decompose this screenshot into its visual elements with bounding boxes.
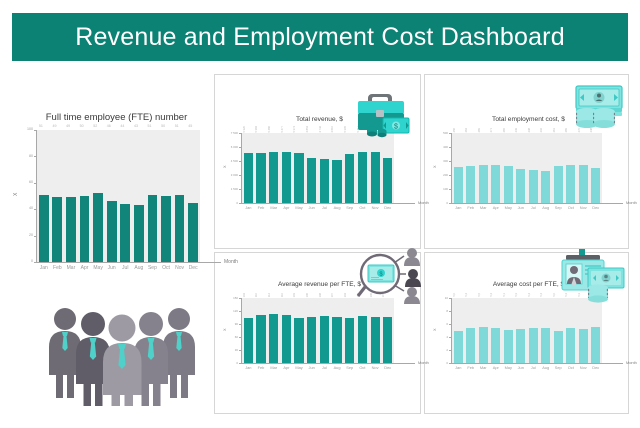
y-axis-tick-mark	[239, 189, 242, 190]
bar[interactable]: 106	[371, 317, 380, 363]
bar[interactable]: 52	[93, 193, 103, 262]
bar[interactable]: 49	[52, 197, 62, 262]
bar[interactable]: 5 320	[244, 153, 253, 203]
bar-group: 103	[293, 298, 306, 363]
bar-value-label: 50	[161, 125, 165, 129]
bar-value-label: 256	[454, 128, 457, 132]
x-axis-tick-label: Sep	[343, 366, 356, 370]
bar-group: 45	[186, 130, 200, 262]
x-axis-name: Month	[626, 361, 637, 365]
y-axis-name: X	[223, 165, 227, 168]
x-axis-tick-label: May	[91, 266, 105, 271]
id-card-money-icon	[552, 248, 626, 306]
x-axis-tick-label: Sep	[552, 366, 565, 370]
bar-value-label: 43	[134, 125, 138, 129]
bar-value-label: 5,4	[466, 293, 469, 297]
bar-group: 44	[118, 130, 132, 262]
y-axis-line	[241, 133, 242, 204]
bar[interactable]: 261	[554, 166, 563, 203]
bar-group: 5,3	[577, 298, 590, 363]
y-axis-tick-label: 2	[434, 349, 448, 352]
bar[interactable]: 108	[358, 316, 367, 363]
bar-value-label: 52	[93, 125, 97, 129]
bar-group: 269	[565, 133, 578, 203]
x-axis-tick-label: Jun	[305, 206, 318, 210]
dashboard-header-band: Revenue and Employment Cost Dashboard	[12, 13, 628, 61]
plot-area: 104110112110103106108107104108106107	[242, 298, 394, 363]
bar-group: 106	[369, 298, 382, 363]
bar[interactable]: 51	[148, 195, 158, 262]
bar-series: 514949505246444351505145	[37, 130, 200, 262]
bar-value-label: 5,1	[504, 293, 507, 297]
bar-value-label: 103	[294, 293, 297, 297]
bar-series: 104110112110103106108107104108106107	[242, 298, 394, 363]
x-axis-tick-label: May	[502, 366, 515, 370]
x-axis-tick-label: Jun	[305, 366, 318, 370]
bar[interactable]: 5 384	[256, 153, 265, 203]
bar[interactable]: 49	[66, 197, 76, 262]
x-axis-labels: JanFebMarAprMayJunJulAugSepOctNovDec	[242, 206, 394, 210]
y-axis-tick-label: 0	[434, 202, 448, 205]
y-axis-tick-mark	[449, 161, 452, 162]
bar[interactable]: 104	[345, 318, 354, 363]
five-employees-icon	[34, 302, 210, 406]
svg-text:$: $	[379, 272, 382, 278]
y-axis-tick-mark	[239, 311, 242, 312]
bar-value-label: 106	[307, 293, 310, 297]
y-axis-line	[451, 298, 452, 364]
bar-group: 52	[91, 130, 105, 262]
y-axis-tick-label: 100	[15, 128, 33, 132]
bar-value-label: 104	[345, 293, 348, 297]
bar-group: 5,0	[452, 298, 465, 363]
bar[interactable]: 5,4	[466, 328, 475, 363]
bar-value-label: 49	[66, 125, 70, 129]
bar[interactable]: 5 305	[345, 154, 354, 204]
y-axis-tick-label: 80	[15, 155, 33, 159]
bar-value-label: 5,3	[516, 293, 519, 297]
x-axis-tick-label: Aug	[540, 366, 553, 370]
x-axis-tick-label: Dec	[381, 366, 394, 370]
bar-group: 5,1	[502, 298, 515, 363]
bar[interactable]: 112	[269, 314, 278, 363]
x-axis-tick-label: Jun	[515, 206, 528, 210]
bar-group: 49	[64, 130, 78, 262]
y-axis-tick-mark	[449, 337, 452, 338]
bar-series: 5 3205 3845 4665 4775 3744 8544 7424 610…	[242, 133, 394, 203]
bar[interactable]: 5,0	[454, 331, 463, 364]
bar-value-label: 107	[332, 293, 335, 297]
y-axis-tick-label: 500	[434, 132, 448, 135]
bar-value-label: 269	[479, 128, 482, 132]
x-axis-tick-label: Jan	[452, 206, 465, 210]
bar-group: 4 742	[318, 133, 331, 203]
x-axis-tick-label: Nov	[369, 366, 382, 370]
bar[interactable]: 4 742	[320, 159, 329, 203]
x-axis-tick-label: Jul	[118, 266, 132, 271]
bar[interactable]: 108	[320, 316, 329, 363]
bar[interactable]: 4 833	[383, 158, 392, 203]
bar[interactable]: 51	[39, 195, 49, 262]
y-axis-tick-label: 0	[224, 202, 238, 205]
y-axis-tick-mark	[449, 133, 452, 134]
y-axis-tick-label: 1 500	[224, 188, 238, 191]
bar-group: 5,3	[515, 298, 528, 363]
bar[interactable]: 50	[80, 196, 90, 262]
bar[interactable]: 5,3	[579, 329, 588, 363]
bar-group: 5 477	[280, 133, 293, 203]
bar[interactable]: 5,4	[541, 328, 550, 363]
bar-group: 5,5	[477, 298, 490, 363]
y-axis-tick-mark	[239, 363, 242, 364]
y-axis-tick-label: 3 000	[224, 174, 238, 177]
bar-group: 110	[280, 298, 293, 363]
y-axis-tick-mark	[449, 324, 452, 325]
bar-group: 5,4	[540, 298, 553, 363]
bar-group: 5 417	[356, 133, 369, 203]
x-axis-tick-label: Apr	[78, 266, 92, 271]
bar-group: 5,4	[465, 298, 478, 363]
bar[interactable]: 4 610	[332, 160, 341, 203]
x-axis-tick-label: Sep	[146, 266, 160, 271]
bar-group: 265	[502, 133, 515, 203]
bar-group: 5 416	[369, 133, 382, 203]
bar-value-label: 232	[541, 128, 544, 132]
y-axis-tick-label: 30	[224, 349, 238, 352]
bar[interactable]: 4 854	[307, 158, 316, 203]
bar-value-label: 110	[282, 293, 285, 297]
y-axis-tick-mark	[34, 209, 37, 210]
y-axis-tick-label: 150	[224, 297, 238, 300]
bar-value-label: 50	[80, 125, 84, 129]
bar-group: 46	[105, 130, 119, 262]
x-axis-tick-label: Sep	[552, 206, 565, 210]
bar-group: 270	[577, 133, 590, 203]
bar[interactable]: 5,4	[566, 328, 575, 363]
bar-group: 51	[37, 130, 51, 262]
bar-group: 5,5	[590, 298, 603, 363]
x-axis-tick-label: Apr	[490, 206, 503, 210]
y-axis-name: X	[433, 328, 437, 331]
bar[interactable]: 46	[107, 201, 117, 262]
x-axis-tick-label: Jun	[105, 266, 119, 271]
bar[interactable]: 45	[188, 203, 198, 262]
y-axis-name: X	[433, 165, 437, 168]
bar-group: 5,0	[552, 298, 565, 363]
bar-value-label: 49	[52, 125, 56, 129]
x-axis-tick-label: Jan	[242, 366, 255, 370]
svg-text:$: $	[394, 124, 398, 131]
x-axis-tick-label: Apr	[280, 366, 293, 370]
x-axis-tick-label: Feb	[465, 366, 478, 370]
bar-group: 269	[477, 133, 490, 203]
x-axis-tick-label: Apr	[280, 206, 293, 210]
x-axis-line	[451, 203, 623, 204]
x-axis-labels: JanFebMarAprMayJunJulAugSepOctNovDec	[452, 206, 602, 210]
x-axis-tick-label: Mar	[477, 206, 490, 210]
bar-group: 261	[552, 133, 565, 203]
bar[interactable]: 5,1	[504, 330, 513, 363]
chart-fte-number: Full time employee (FTE) number 51494950…	[14, 112, 219, 297]
bar-value-label: 5 466	[269, 126, 272, 133]
x-axis-tick-label: Mar	[267, 206, 280, 210]
bar[interactable]: 265	[504, 166, 513, 203]
bar[interactable]: 5 374	[294, 153, 303, 203]
bar[interactable]: 106	[307, 317, 316, 363]
bar-value-label: 5,5	[479, 293, 482, 297]
y-axis-tick-label: 200	[434, 174, 448, 177]
x-axis-tick-label: Aug	[331, 366, 344, 370]
bar-value-label: 4 742	[320, 126, 323, 133]
bar-group: 4 610	[331, 133, 344, 203]
x-axis-labels: JanFebMarAprMayJunJulAugSepOctNovDec	[452, 366, 602, 370]
briefcase-money-icon: $	[346, 82, 414, 140]
bar[interactable]: 5,5	[591, 327, 600, 363]
bar-group: 112	[267, 298, 280, 363]
y-axis-tick-mark	[449, 350, 452, 351]
bar[interactable]: 5,0	[554, 331, 563, 364]
bar[interactable]: 50	[161, 196, 171, 262]
bar-group: 106	[305, 298, 318, 363]
y-axis-name: X	[223, 328, 227, 331]
bar-value-label: 271	[491, 128, 494, 132]
x-axis-line	[241, 203, 415, 204]
bar[interactable]: 44	[120, 204, 130, 262]
y-axis-tick-mark	[239, 147, 242, 148]
x-axis-tick-label: Aug	[132, 266, 146, 271]
x-axis-name: Month	[224, 260, 238, 265]
bar[interactable]: 248	[591, 168, 600, 203]
y-axis-tick-label: 8	[434, 310, 448, 313]
bar[interactable]: 264	[466, 166, 475, 203]
y-axis-tick-mark	[34, 156, 37, 157]
bar-group: 104	[242, 298, 255, 363]
y-axis-tick-mark	[449, 189, 452, 190]
bar[interactable]: 5 416	[371, 152, 380, 203]
plot-area: 514949505246444351505145	[37, 130, 200, 262]
x-axis-tick-label: Feb	[255, 206, 268, 210]
bar[interactable]: 243	[516, 169, 525, 203]
bar-value-label: 261	[554, 128, 557, 132]
y-axis-tick-mark	[449, 175, 452, 176]
bar[interactable]: 5,4	[529, 328, 538, 363]
x-axis-tick-label: Oct	[356, 206, 369, 210]
bar-group: 243	[515, 133, 528, 203]
bar[interactable]: 5,3	[516, 329, 525, 363]
plot-area: 5,05,45,55,45,15,35,45,45,05,45,35,5	[452, 298, 602, 363]
x-axis-labels: JanFebMarAprMayJunJulAugSepOctNovDec	[242, 366, 394, 370]
y-axis-tick-mark	[449, 203, 452, 204]
bar[interactable]: 5 477	[282, 152, 291, 203]
y-axis-tick-label: 120	[224, 310, 238, 313]
y-axis-tick-mark	[449, 298, 452, 299]
y-axis-tick-mark	[449, 363, 452, 364]
bar-group: 107	[331, 298, 344, 363]
x-axis-tick-label: Oct	[565, 366, 578, 370]
bar-group: 5 374	[293, 133, 306, 203]
plot-area: 5 3205 3845 4665 4775 3744 8544 7424 610…	[242, 133, 394, 203]
bar[interactable]: 51	[175, 195, 185, 262]
bar[interactable]: 110	[282, 315, 291, 363]
x-axis-tick-label: Jan	[242, 206, 255, 210]
bar-value-label: 51	[39, 125, 43, 129]
y-axis-tick-mark	[34, 262, 37, 263]
y-axis-tick-label: 100	[434, 188, 448, 191]
y-axis-tick-mark	[239, 350, 242, 351]
x-axis-tick-label: Oct	[159, 266, 173, 271]
y-axis-line	[36, 130, 37, 263]
page-title: Revenue and Employment Cost Dashboard	[75, 23, 565, 52]
y-axis-tick-mark	[239, 161, 242, 162]
plot-area: 256264269271265243238232261269270248	[452, 133, 602, 203]
bar-group: 5,4	[565, 298, 578, 363]
bar-value-label: 104	[244, 293, 247, 297]
bar[interactable]: 107	[383, 317, 392, 363]
banknote-coins-icon	[562, 80, 626, 136]
x-axis-tick-label: Mar	[267, 366, 280, 370]
bar-value-label: 238	[529, 128, 532, 132]
bar[interactable]: 43	[134, 205, 144, 262]
x-axis-tick-label: Aug	[540, 206, 553, 210]
x-axis-line	[241, 363, 415, 364]
bar-group: 49	[51, 130, 65, 262]
y-axis-tick-label: 0	[224, 362, 238, 365]
bar-group: 110	[255, 298, 268, 363]
x-axis-tick-label: Dec	[381, 206, 394, 210]
bar-value-label: 112	[269, 293, 272, 297]
bar-value-label: 5,4	[491, 293, 494, 297]
y-axis-tick-label: 6	[434, 323, 448, 326]
bar[interactable]: 238	[529, 170, 538, 203]
bar-group: 51	[173, 130, 187, 262]
bar[interactable]: 269	[566, 165, 575, 203]
y-axis-tick-label: 6 000	[224, 146, 238, 149]
x-axis-tick-label: May	[502, 206, 515, 210]
bar-group: 5,4	[527, 298, 540, 363]
y-axis-name: X	[14, 193, 19, 196]
y-axis-tick-mark	[34, 183, 37, 184]
x-axis-tick-label: Nov	[577, 366, 590, 370]
bar[interactable]: 232	[541, 171, 550, 203]
x-axis-tick-label: Jul	[318, 206, 331, 210]
bar[interactable]: 103	[294, 318, 303, 363]
bar-group: 50	[159, 130, 173, 262]
bar-value-label: 108	[320, 293, 323, 297]
bar-group: 271	[490, 133, 503, 203]
bar[interactable]: 104	[244, 318, 253, 363]
bar-value-label: 51	[175, 125, 179, 129]
y-axis-tick-label: 60	[224, 336, 238, 339]
bar[interactable]: 5,5	[479, 327, 488, 363]
bar-group: 108	[318, 298, 331, 363]
y-axis-line	[241, 298, 242, 364]
bar-value-label: 4 610	[332, 126, 335, 133]
bar-value-label: 46	[107, 125, 111, 129]
bar-group: 264	[465, 133, 478, 203]
bar-group: 43	[132, 130, 146, 262]
x-axis-name: Month	[418, 201, 429, 205]
bar-value-label: 265	[504, 128, 507, 132]
bar[interactable]: 256	[454, 167, 463, 203]
y-axis-tick-label: 400	[434, 146, 448, 149]
x-axis-tick-label: Oct	[565, 206, 578, 210]
x-axis-tick-label: Mar	[477, 366, 490, 370]
x-axis-tick-label: May	[293, 206, 306, 210]
bar-value-label: 5 477	[282, 126, 285, 133]
bar-value-label: 5,4	[541, 293, 544, 297]
bar-group: 108	[356, 298, 369, 363]
bar-value-label: 45	[188, 125, 192, 129]
x-axis-tick-label: Dec	[186, 266, 200, 271]
bar-group: 232	[540, 133, 553, 203]
x-axis-tick-label: Jan	[452, 366, 465, 370]
bar-value-label: 5,4	[529, 293, 532, 297]
bar-group: 238	[527, 133, 540, 203]
bar[interactable]: 5 417	[358, 152, 367, 203]
y-axis-tick-label: 10	[434, 297, 448, 300]
x-axis-tick-label: Feb	[255, 366, 268, 370]
chart-title: Full time employee (FTE) number	[14, 112, 219, 123]
y-axis-tick-label: 60	[15, 181, 33, 185]
y-axis-tick-label: 90	[224, 323, 238, 326]
y-axis-tick-label: 0	[15, 260, 33, 264]
bar[interactable]: 110	[256, 315, 265, 363]
x-axis-tick-label: Jan	[37, 266, 51, 271]
x-axis-tick-label: Nov	[173, 266, 187, 271]
x-axis-tick-label: Nov	[369, 206, 382, 210]
x-axis-name: Month	[626, 201, 637, 205]
bar-group: 104	[343, 298, 356, 363]
bar[interactable]: 271	[491, 165, 500, 203]
x-axis-tick-label: Sep	[343, 206, 356, 210]
y-axis-tick-mark	[34, 236, 37, 237]
bar-group: 248	[590, 133, 603, 203]
bar[interactable]: 107	[332, 317, 341, 363]
bar-value-label: 51	[148, 125, 152, 129]
y-axis-tick-mark	[239, 175, 242, 176]
x-axis-line	[36, 262, 221, 263]
bar-group: 256	[452, 133, 465, 203]
x-axis-line	[451, 363, 623, 364]
bar-value-label: 5 374	[294, 126, 297, 133]
y-axis-tick-mark	[239, 337, 242, 338]
y-axis-tick-mark	[449, 311, 452, 312]
bar-group: 4 833	[381, 133, 394, 203]
bar-group: 4 854	[305, 133, 318, 203]
y-axis-line	[451, 133, 452, 204]
bar-group: 107	[381, 298, 394, 363]
x-axis-tick-label: Aug	[331, 206, 344, 210]
x-axis-tick-label: Nov	[577, 206, 590, 210]
bar[interactable]: 5 466	[269, 152, 278, 203]
y-axis-tick-mark	[239, 298, 242, 299]
y-axis-tick-mark	[239, 203, 242, 204]
magnifier-people-network-icon: $	[356, 246, 428, 304]
bar[interactable]: 5,4	[491, 328, 500, 363]
y-axis-tick-label: 4	[434, 336, 448, 339]
y-axis-tick-label: 40	[15, 207, 33, 211]
x-axis-tick-label: Mar	[64, 266, 78, 271]
bar-group: 5,4	[490, 298, 503, 363]
bar[interactable]: 270	[579, 165, 588, 203]
bar[interactable]: 269	[479, 165, 488, 203]
bar-group: 5 305	[343, 133, 356, 203]
bar-group: 50	[78, 130, 92, 262]
bar-value-label: 5 384	[256, 126, 259, 133]
bar-group: 5 466	[267, 133, 280, 203]
bar-group: 51	[146, 130, 160, 262]
y-axis-tick-label: 300	[434, 160, 448, 163]
